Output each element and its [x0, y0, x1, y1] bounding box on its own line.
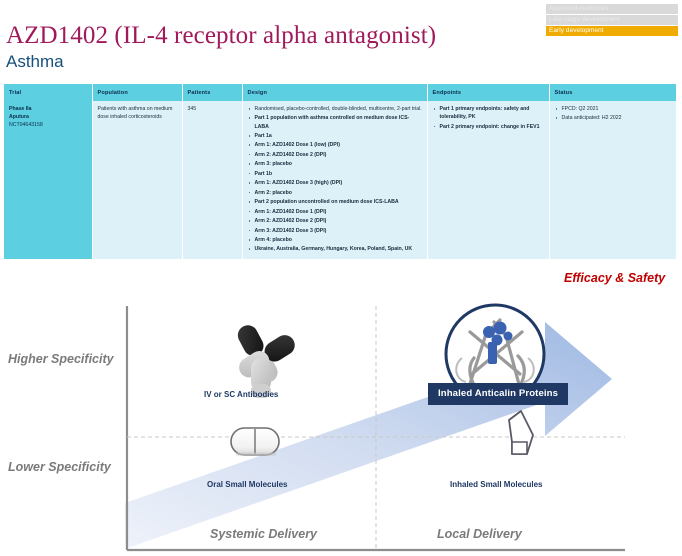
list-item: Arm 2: AZD1402 Dose 2 (DPI) [248, 151, 423, 159]
quadrant-label-antibodies: IV or SC Antibodies [204, 390, 278, 399]
design-bullet-list: Randomised, placebo-controlled, double-b… [248, 105, 423, 253]
table-row: Phase IIa Aputura NCT04643158 Patients w… [4, 101, 676, 259]
table-header-row: Trial Population Patients Design Endpoin… [4, 84, 676, 101]
page-title: AZD1402 (IL-4 receptor alpha antagonist) [6, 22, 436, 50]
quadrant-label-anticalin-proteins: Inhaled Anticalin Proteins [428, 383, 568, 405]
cell-trial: Phase IIa Aputura NCT04643158 [4, 101, 92, 259]
y-axis-bottom-label: Lower Specificity [8, 460, 111, 474]
trial-name: Aputura [9, 113, 88, 121]
antibody-icon [234, 322, 298, 398]
list-item: Arm 4: placebo [248, 236, 423, 244]
list-item: Ukraine, Australia, Germany, Hungary, Ko… [248, 245, 423, 253]
trial-phase: Phase IIa [9, 105, 88, 113]
list-item: Arm 3: placebo [248, 160, 423, 168]
list-item: FPCD: Q2 2021 [555, 105, 672, 113]
column-header-design: Design [242, 84, 427, 101]
cell-status: FPCD: Q2 2021 Data anticipated: H2 2022 [549, 101, 676, 259]
trial-registry-id: NCT04643158 [9, 121, 88, 129]
list-item: Part 2 population uncontrolled on medium… [248, 198, 423, 206]
list-item: Arm 3: AZD1402 Dose 3 (DPI) [248, 227, 423, 235]
legend-item-late-stage-development[interactable]: Late-stage development [546, 15, 678, 25]
list-item: Arm 1: AZD1402 Dose 3 (high) (DPI) [248, 179, 423, 187]
cell-population: Patients with asthma on medium dose inha… [92, 101, 182, 259]
efficacy-safety-label: Efficacy & Safety [564, 271, 665, 285]
list-item: Data anticipated: H2 2022 [555, 114, 672, 122]
quadrant-label-oral-small-molecules: Oral Small Molecules [207, 480, 287, 489]
legend-item-approved-medicines[interactable]: Approved medicines [546, 4, 678, 14]
specificity-delivery-diagram: Higher Specificity Lower Specificity Sys… [0, 262, 682, 556]
column-header-trial: Trial [4, 84, 92, 101]
x-axis-right-label: Local Delivery [437, 527, 522, 541]
legend-item-early-development[interactable]: Early development [546, 26, 678, 36]
list-item: Arm 2: placebo [248, 189, 423, 197]
cell-endpoints: Part 1 primary endpoints: safety and tol… [427, 101, 549, 259]
trial-table: Trial Population Patients Design Endpoin… [4, 84, 677, 259]
column-header-population: Population [92, 84, 182, 101]
page-subtitle: Asthma [6, 52, 64, 72]
status-bullet-list: FPCD: Q2 2021 Data anticipated: H2 2022 [555, 105, 672, 123]
inhaler-icon [509, 411, 533, 454]
list-item: Arm 2: AZD1402 Dose 2 (DPI) [248, 217, 423, 225]
diagram-canvas [0, 262, 682, 556]
capsule-pill-icon [231, 428, 279, 455]
cell-design: Randomised, placebo-controlled, double-b… [242, 101, 427, 259]
quadrant-label-inhaled-small-molecules: Inhaled Small Molecules [450, 480, 542, 489]
list-item: Part 2 primary endpoint: change in FEV1 [433, 123, 545, 131]
column-header-status: Status [549, 84, 676, 101]
list-item: Part 1 primary endpoints: safety and tol… [433, 105, 545, 121]
list-item: Part 1 population with asthma controlled… [248, 114, 423, 130]
list-item: Part 1b [248, 170, 423, 178]
pipeline-stage-legend: Approved medicines Late-stage developmen… [546, 4, 678, 36]
list-item: Arm 1: AZD1402 Dose 1 (DPI) [248, 208, 423, 216]
cell-patients: 345 [182, 101, 242, 259]
x-axis-left-label: Systemic Delivery [210, 527, 317, 541]
list-item: Part 1a [248, 132, 423, 140]
column-header-endpoints: Endpoints [427, 84, 549, 101]
y-axis-top-label: Higher Specificity [8, 352, 114, 366]
column-header-patients: Patients [182, 84, 242, 101]
endpoints-bullet-list: Part 1 primary endpoints: safety and tol… [433, 105, 545, 131]
list-item: Arm 1: AZD1402 Dose 1 (low) (DPI) [248, 141, 423, 149]
list-item: Randomised, placebo-controlled, double-b… [248, 105, 423, 113]
